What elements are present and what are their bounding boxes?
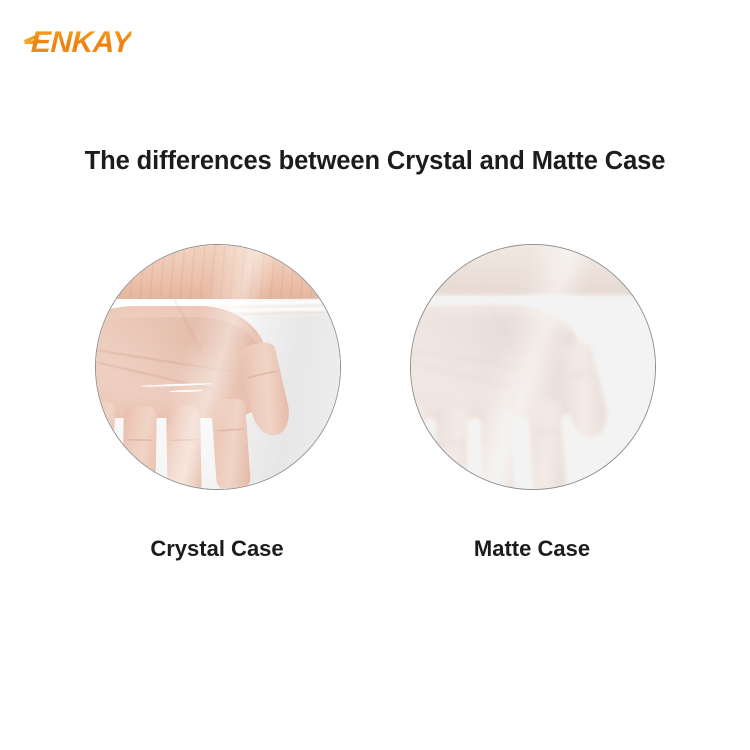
- caption-crystal-case: Crystal Case: [95, 536, 339, 562]
- finger: [122, 406, 157, 490]
- comparison-item-crystal: Crystal Case: [95, 244, 341, 562]
- finger: [479, 407, 516, 490]
- matte-case-photo: [410, 244, 656, 490]
- comparison-section: Crystal Case: [0, 244, 750, 574]
- finger: [526, 399, 568, 490]
- brand-name: ENKAY: [30, 26, 131, 60]
- crystal-case-photo: [95, 244, 341, 490]
- caption-matte-case: Matte Case: [410, 536, 654, 562]
- hand-wrist: [410, 244, 656, 296]
- page-title: The differences between Crystal and Matt…: [0, 146, 750, 176]
- matte-case-scene: [410, 244, 656, 490]
- finger: [166, 406, 202, 490]
- crystal-case-scene: [96, 245, 340, 489]
- finger: [433, 407, 469, 490]
- brand-logo: ENKAY: [31, 26, 171, 62]
- finger: [211, 398, 252, 490]
- comparison-item-matte: Matte Case: [410, 244, 656, 562]
- hand-wrist: [95, 244, 341, 299]
